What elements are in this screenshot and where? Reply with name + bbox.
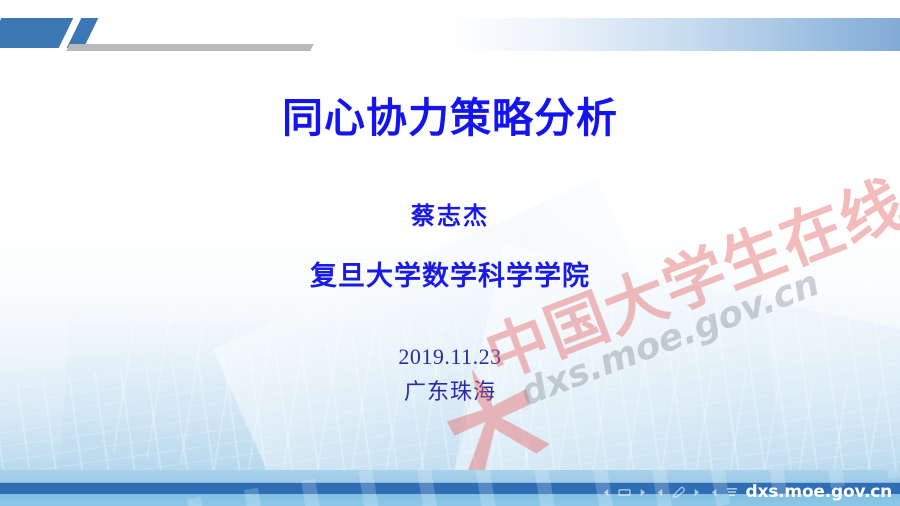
menu-icon[interactable] bbox=[726, 486, 739, 499]
next-step-arrow[interactable] bbox=[690, 486, 703, 499]
next-slide-arrow[interactable] bbox=[636, 486, 649, 499]
header-gradient-bar bbox=[446, 18, 900, 51]
presentation-slide: 同心协力策略分析 蔡志杰 复旦大学数学科学学院 2019.11.23 广东珠海 … bbox=[0, 0, 900, 506]
author-name: 蔡志杰 bbox=[0, 196, 900, 231]
back-arrow[interactable] bbox=[708, 486, 721, 499]
slideshow-controls[interactable]: dxs.moe.gov.cn bbox=[600, 481, 892, 503]
prev-slide-arrow[interactable] bbox=[600, 486, 613, 499]
page-title: 同心协力策略分析 bbox=[0, 96, 900, 141]
header-gray-bar bbox=[66, 44, 313, 51]
footer-url-text: dxs.moe.gov.cn bbox=[746, 482, 892, 502]
affiliation-text: 复旦大学数学科学学院 bbox=[0, 254, 900, 293]
presentation-date: 2019.11.23 bbox=[0, 344, 900, 370]
presentation-location: 广东珠海 bbox=[0, 374, 900, 406]
pen-tool[interactable] bbox=[672, 486, 685, 499]
slide-indicator[interactable] bbox=[618, 486, 631, 499]
prev-step-arrow[interactable] bbox=[654, 486, 667, 499]
